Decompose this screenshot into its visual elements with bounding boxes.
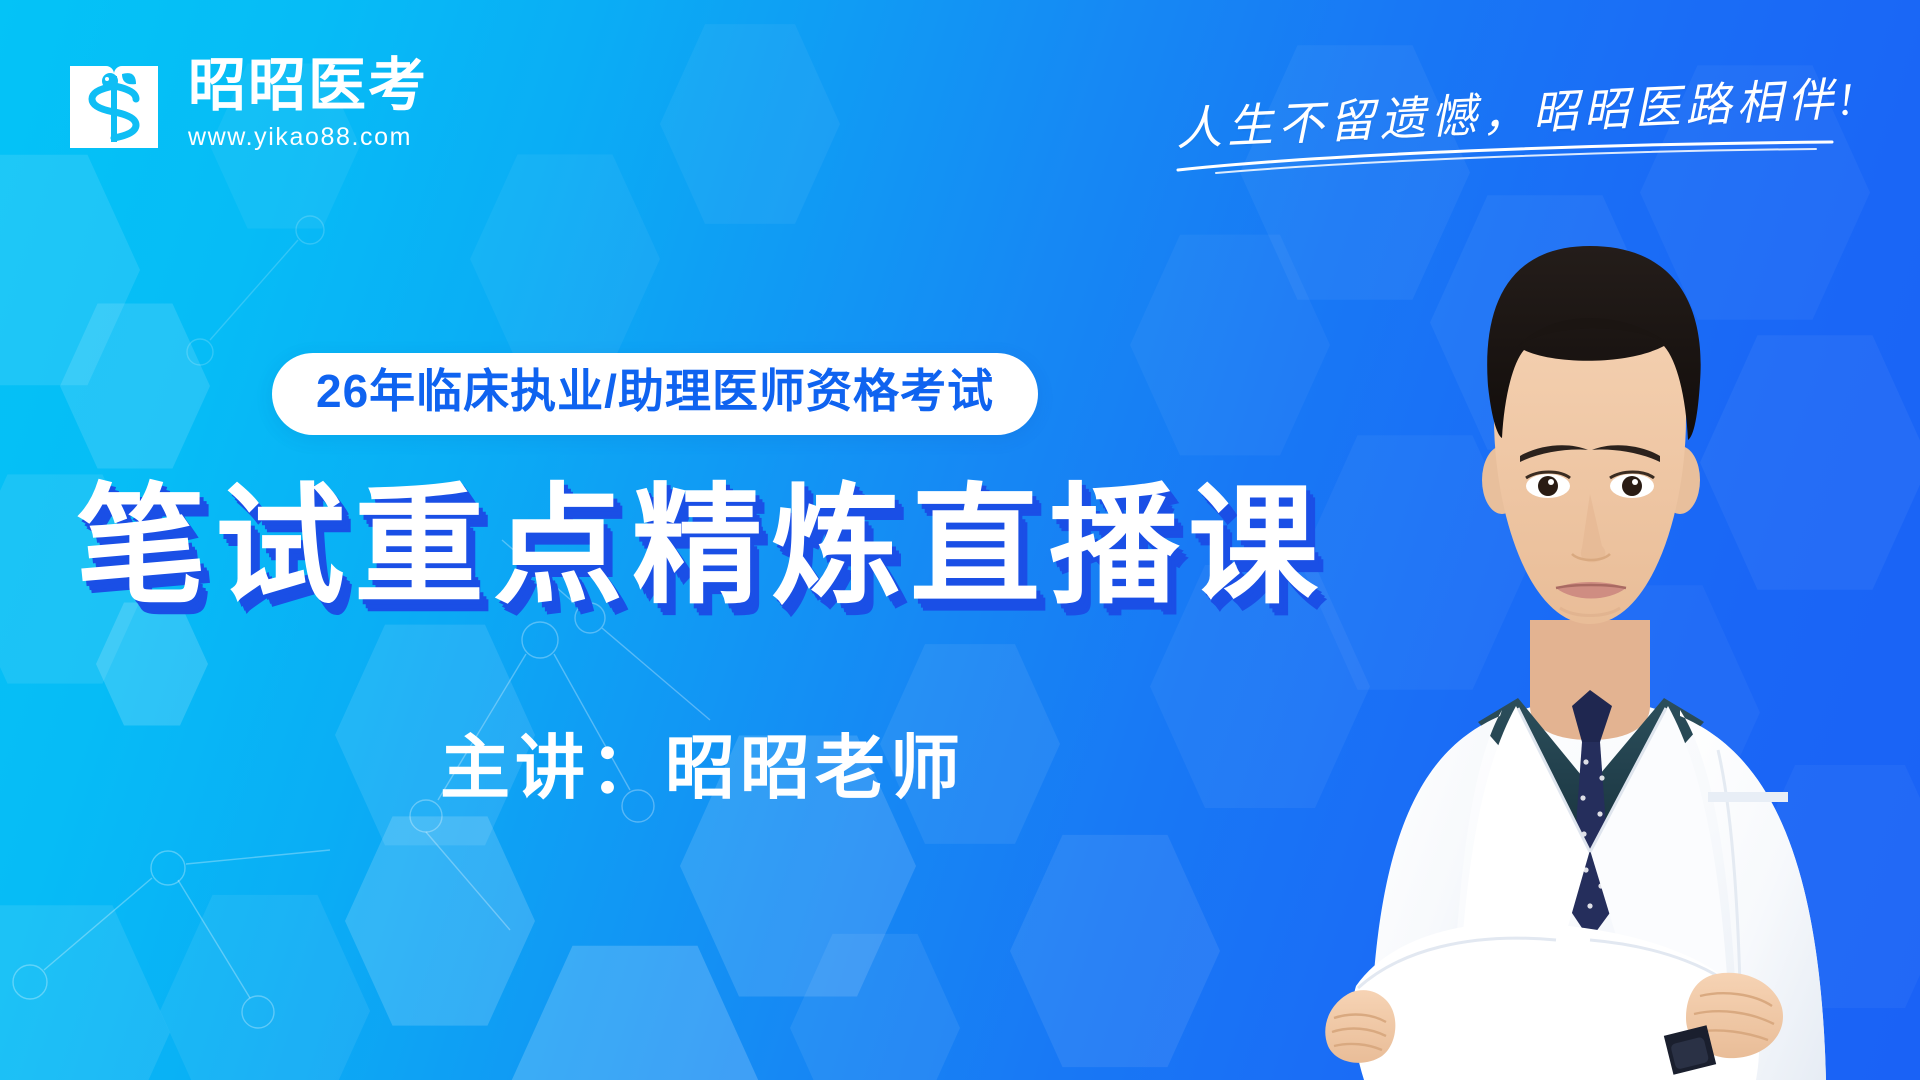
brand-url: www.yikao88.com <box>188 123 428 152</box>
promo-poster: 昭昭医考 www.yikao88.com 人生不留遗憾，昭昭医路相伴! 26年临… <box>0 0 1920 1080</box>
exam-badge[interactable]: 26年临床执业/助理医师资格考试 <box>272 353 1038 435</box>
hexagon-shape <box>345 812 535 1030</box>
brand-slogan: 人生不留遗憾，昭昭医路相伴! <box>1118 62 1858 128</box>
hexagon-shape <box>96 600 208 728</box>
hexagon-shape <box>0 150 140 390</box>
hexagon-shape <box>660 20 840 228</box>
hexagon-shape <box>0 900 170 1080</box>
hexagon-shape <box>510 940 760 1080</box>
hexagon-shape <box>470 150 660 368</box>
instructor-line: 主讲：昭昭老师 <box>440 712 965 813</box>
hexagon-shape <box>60 300 210 472</box>
caduceus-book-icon <box>62 52 166 156</box>
instructor-photo <box>1120 150 1880 1080</box>
hexagon-shape <box>160 890 370 1080</box>
brand-name: 昭昭医考 <box>188 58 428 115</box>
brand-logo[interactable]: 昭昭医考 www.yikao88.com <box>62 52 428 156</box>
exam-badge-label: 26年临床执业/助理医师资格考试 <box>316 366 994 418</box>
molecule-decoration <box>0 820 420 1080</box>
hexagon-shape <box>790 930 960 1080</box>
